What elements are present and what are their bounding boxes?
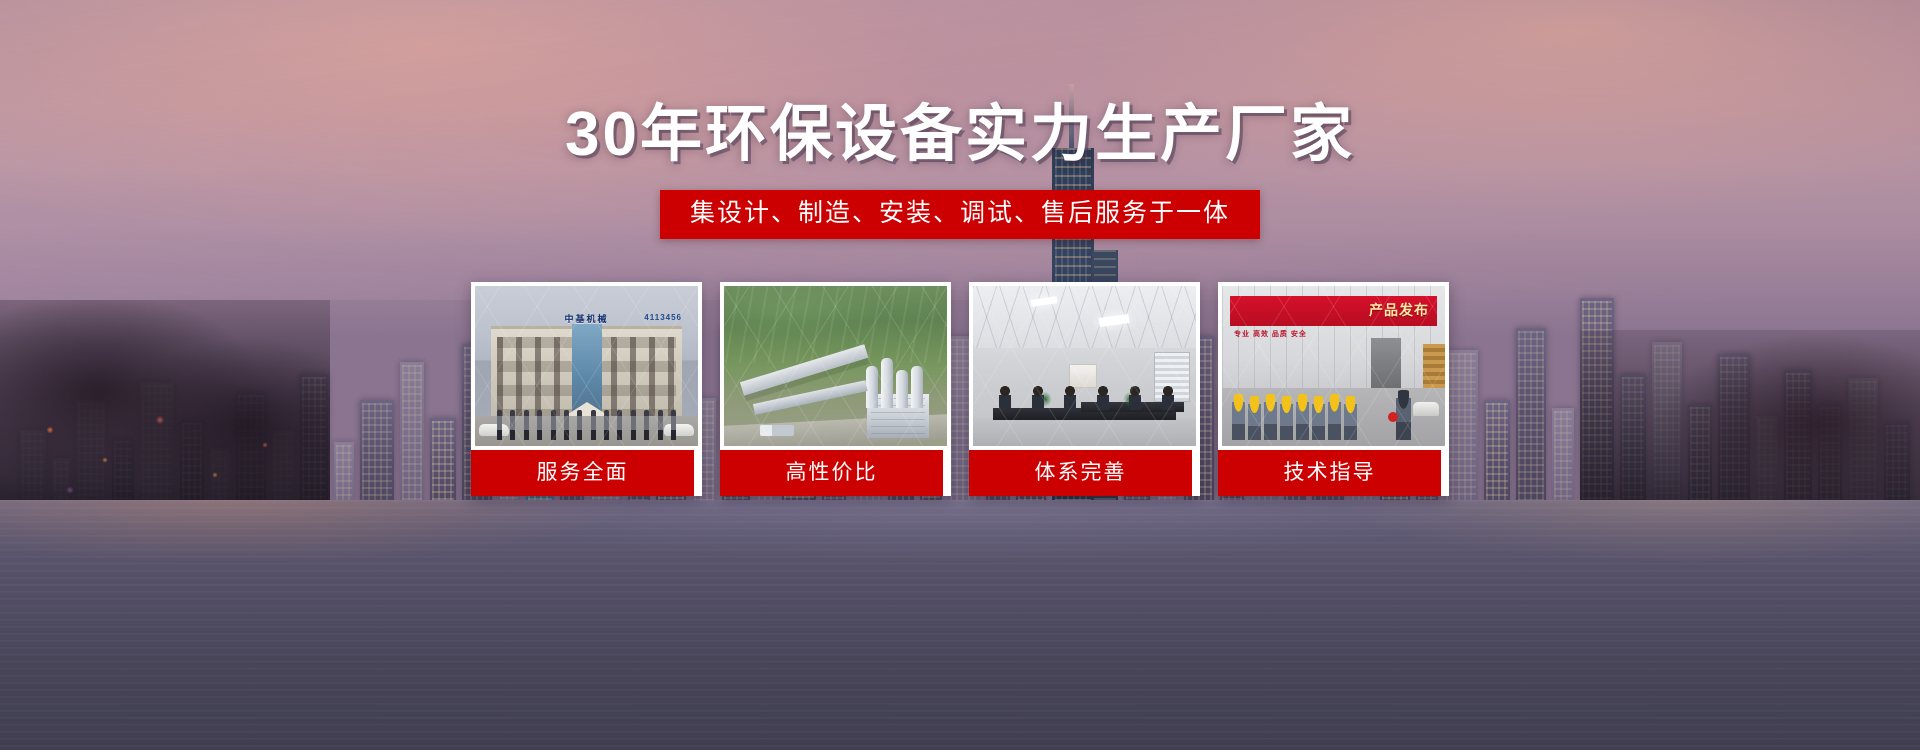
card-caption-system: 体系完善 (969, 450, 1192, 496)
feature-card-guidance[interactable]: 产品发布 专业 高效 品质 安全 技术指导 (1218, 282, 1449, 496)
feature-card-system[interactable]: 体系完善 (969, 282, 1200, 496)
hero-banner: 30年环保设备实力生产厂家 集设计、制造、安装、调试、售后服务于一体 中基机械 … (0, 0, 1920, 750)
card-caption-guidance: 技术指导 (1218, 450, 1441, 496)
feature-card-service[interactable]: 中基机械 4113456 服务全面 (471, 282, 702, 496)
workshop-banner-text: 产品发布 (1369, 300, 1429, 320)
feature-card-value[interactable]: 高性价比 (720, 282, 951, 496)
card-caption-value: 高性价比 (720, 450, 943, 496)
card-thumbnail-workshop-training: 产品发布 专业 高效 品质 安全 (1222, 286, 1445, 446)
building-signage-text: 中基机械 (564, 312, 608, 325)
card-thumbnail-office-building: 中基机械 4113456 (475, 286, 698, 446)
card-thumbnail-production-plant (724, 286, 947, 446)
banner-subtitle-ribbon: 集设计、制造、安装、调试、售后服务于一体 (660, 190, 1260, 239)
feature-card-list: 中基机械 4113456 服务全面 (471, 282, 1449, 496)
banner-content: 30年环保设备实力生产厂家 集设计、制造、安装、调试、售后服务于一体 中基机械 … (0, 0, 1920, 750)
building-phone-text: 4113456 (644, 313, 682, 322)
workshop-side-text: 专业 高效 品质 安全 (1234, 330, 1307, 341)
workshop-red-banner: 产品发布 (1230, 296, 1437, 326)
banner-headline: 30年环保设备实力生产厂家 (565, 104, 1355, 166)
card-caption-service: 服务全面 (471, 450, 694, 496)
card-thumbnail-office-interior (973, 286, 1196, 446)
